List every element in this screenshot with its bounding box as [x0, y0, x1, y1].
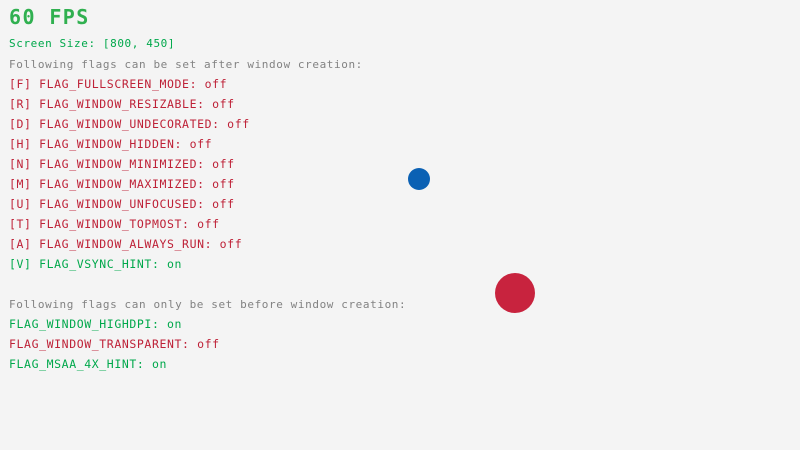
flag-row-flag-window-resizable[interactable]: [R] FLAG_WINDOW_RESIZABLE: off — [9, 99, 235, 111]
blue-ball — [408, 168, 430, 190]
screen-size-label: Screen Size: [800, 450] — [9, 38, 175, 49]
flag-row-flag-fullscreen-mode[interactable]: [F] FLAG_FULLSCREEN_MODE: off — [9, 79, 227, 91]
flag-row-flag-vsync-hint[interactable]: [V] FLAG_VSYNC_HINT: on — [9, 259, 182, 271]
red-ball — [495, 273, 535, 313]
fps-counter: 60 FPS — [9, 7, 90, 27]
app-window: 60 FPS Screen Size: [800, 450] Following… — [0, 0, 800, 450]
flag-row-flag-window-unfocused[interactable]: [U] FLAG_WINDOW_UNFOCUSED: off — [9, 199, 235, 211]
flag-row-flag-window-undecorated[interactable]: [D] FLAG_WINDOW_UNDECORATED: off — [9, 119, 250, 131]
flag-row-flag-msaa-4x-hint[interactable]: FLAG_MSAA_4X_HINT: on — [9, 359, 167, 371]
flag-row-flag-window-topmost[interactable]: [T] FLAG_WINDOW_TOPMOST: off — [9, 219, 220, 231]
flag-row-flag-window-always-run[interactable]: [A] FLAG_WINDOW_ALWAYS_RUN: off — [9, 239, 242, 251]
flag-row-flag-window-transparent[interactable]: FLAG_WINDOW_TRANSPARENT: off — [9, 339, 220, 351]
flag-row-flag-window-highdpi[interactable]: FLAG_WINDOW_HIGHDPI: on — [9, 319, 182, 331]
flag-row-flag-window-hidden[interactable]: [H] FLAG_WINDOW_HIDDEN: off — [9, 139, 212, 151]
before-creation-section-header: Following flags can only be set before w… — [9, 299, 406, 310]
after-creation-section-header: Following flags can be set after window … — [9, 59, 363, 70]
flag-row-flag-window-maximized[interactable]: [M] FLAG_WINDOW_MAXIMIZED: off — [9, 179, 235, 191]
flag-row-flag-window-minimized[interactable]: [N] FLAG_WINDOW_MINIMIZED: off — [9, 159, 235, 171]
